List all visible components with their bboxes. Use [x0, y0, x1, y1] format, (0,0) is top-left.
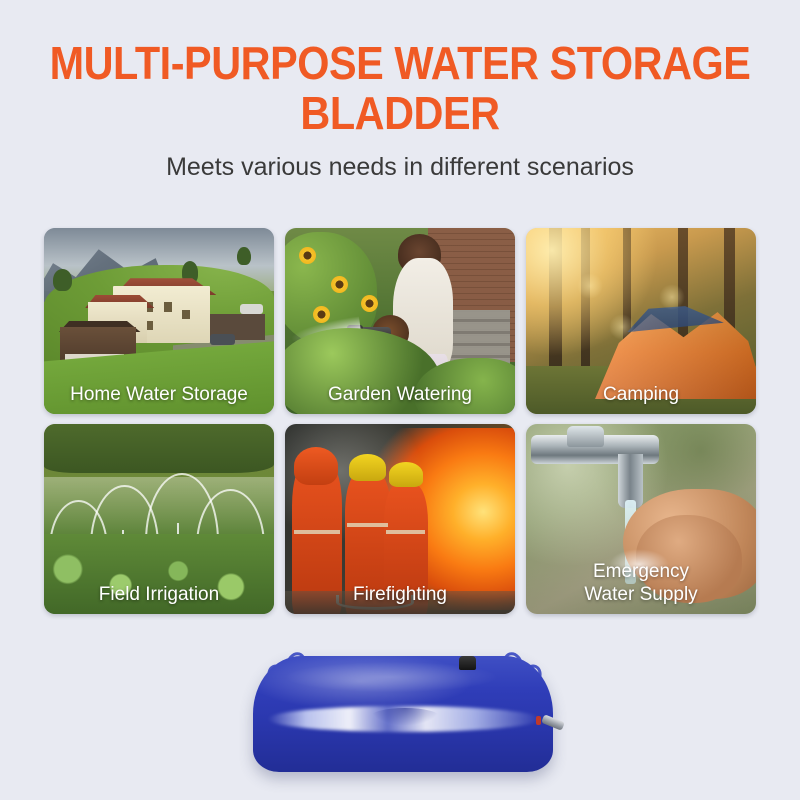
scenario-card-label: Garden Watering	[285, 383, 515, 406]
product-image	[0, 622, 800, 772]
drain-valve-marker	[536, 716, 541, 725]
page-subtitle: Meets various needs in different scenari…	[0, 152, 800, 182]
scenario-card-label: Home Water Storage	[44, 383, 274, 406]
header: MULTI-PURPOSE WATER STORAGE BLADDER Meet…	[0, 0, 800, 182]
scenario-card-label: Camping	[526, 383, 756, 406]
scenario-card-emergency-water-supply[interactable]: Emergency Water Supply	[526, 424, 756, 614]
scenario-card-label: Firefighting	[285, 583, 515, 606]
page-title-line1: MULTI-PURPOSE WATER STORAGE	[40, 38, 760, 88]
scenario-card-field-irrigation[interactable]: Field Irrigation	[44, 424, 274, 614]
scenario-card-firefighting[interactable]: Firefighting	[285, 424, 515, 614]
scenario-card-camping[interactable]: Camping	[526, 228, 756, 414]
bladder-crease	[370, 708, 440, 726]
infographic-page: MULTI-PURPOSE WATER STORAGE BLADDER Meet…	[0, 0, 800, 800]
valve-cap-icon	[459, 656, 476, 670]
scenario-card-garden-watering[interactable]: Garden Watering	[285, 228, 515, 414]
page-title-line2: BLADDER	[40, 88, 760, 138]
scenario-card-home-water-storage[interactable]: Home Water Storage	[44, 228, 274, 414]
scenario-card-label: Field Irrigation	[44, 583, 274, 606]
scenario-grid: Home Water Storage Garden Watering	[44, 228, 756, 614]
scenario-card-label: Emergency Water Supply	[526, 560, 756, 606]
